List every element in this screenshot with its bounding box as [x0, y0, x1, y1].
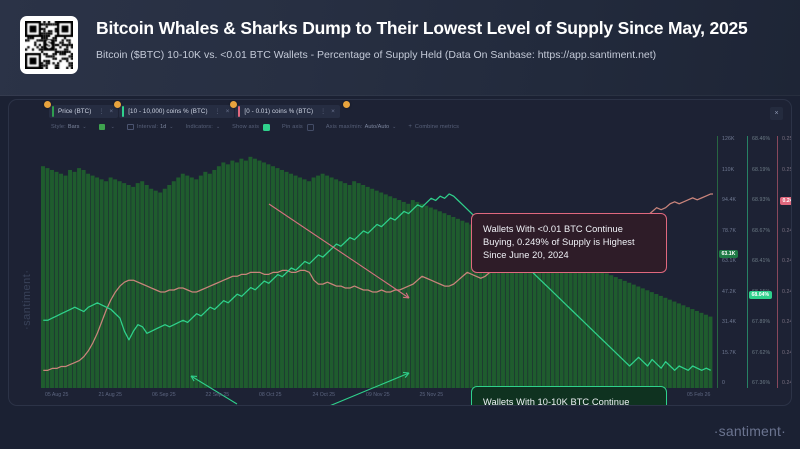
axis-tick: 47.2K: [722, 289, 736, 295]
watermark-left: ·santiment·: [21, 269, 33, 330]
title-block: Bitcoin Whales & Sharks Dump to Their Lo…: [96, 18, 748, 61]
axis-tick: 68.19%: [752, 167, 770, 173]
chip-remove-icon[interactable]: ×: [226, 108, 230, 115]
close-icon[interactable]: ×: [770, 107, 783, 120]
option-pin-axis[interactable]: Pin axis: [282, 124, 314, 131]
x-axis-tick: 05 Feb 26: [687, 392, 710, 398]
x-axis-tick: 09 Nov 25: [366, 392, 390, 398]
qr-code-icon: [20, 16, 78, 74]
option-label: Axis max/min:: [326, 124, 363, 130]
chip-label: [10 - 10,000) coins % (BTC): [128, 108, 207, 115]
x-axis-tick: 05 Aug 25: [45, 392, 68, 398]
metric-chips: Price (BTC)⋮×[10 - 10,000) coins % (BTC)…: [49, 104, 353, 119]
chevron-down-icon[interactable]: ⌄: [392, 124, 396, 130]
chevron-down-icon[interactable]: ⌄: [216, 124, 220, 130]
axis-tick: 78.7K: [722, 228, 736, 234]
chip-remove-icon[interactable]: ×: [331, 108, 335, 115]
axis-tick: 15.7K: [722, 350, 736, 356]
axis-current-value-badge: 0.249%: [780, 197, 792, 205]
option-label: Interval:: [137, 124, 158, 130]
page-subtitle: Bitcoin ($BTC) 10-10K vs. <0.01 BTC Wall…: [96, 49, 748, 61]
chevron-down-icon[interactable]: ⌄: [169, 124, 173, 130]
axis-current-value-badge: 68.04%: [749, 291, 772, 299]
page-title: Bitcoin Whales & Sharks Dump to Their Lo…: [96, 18, 748, 39]
axis-tick: 0.243%: [782, 319, 792, 325]
axis-tick: 63.1K: [722, 258, 736, 264]
option-show-axis[interactable]: Show axis: [232, 124, 270, 131]
plus-icon[interactable]: +: [408, 124, 412, 130]
page-header: Bitcoin Whales & Sharks Dump to Their Lo…: [0, 0, 800, 96]
x-axis-tick: 06 Sep 25: [152, 392, 176, 398]
axis-tick: 68.46%: [752, 136, 770, 142]
chip-menu-icon[interactable]: ⋮: [215, 108, 221, 115]
option-interval[interactable]: Interval:1d⌄: [127, 124, 174, 130]
show-axis-checkbox[interactable]: [263, 124, 270, 131]
chip-label: [0 - 0.01) coins % (BTC): [244, 108, 313, 115]
color-swatch-icon[interactable]: [99, 124, 105, 130]
axis-tick: 126K: [722, 136, 735, 142]
chip-pin-icon[interactable]: [230, 101, 237, 108]
option-label: Show axis: [232, 124, 259, 130]
metric-chip-2[interactable]: [0 - 0.01) coins % (BTC)⋮×: [235, 105, 340, 118]
axis-tick: 0.24%: [782, 380, 792, 386]
chart-panel: Price (BTC)⋮×[10 - 10,000) coins % (BTC)…: [8, 99, 792, 406]
axis-tick: 0.241%: [782, 350, 792, 356]
axis-tick: 68.67%: [752, 228, 770, 234]
axis-tick: 0.251%: [782, 136, 792, 142]
axis-tick: 67.62%: [752, 350, 770, 356]
axis-line: [777, 136, 778, 388]
chip-tail: [341, 105, 353, 118]
option-style[interactable]: Style:Bars⌄: [51, 124, 87, 130]
chip-menu-icon[interactable]: ⋮: [98, 108, 104, 115]
option-indicators[interactable]: Indicators:⌄: [186, 124, 221, 130]
option-label: Combine metrics: [415, 124, 459, 130]
x-axis-tick: 24 Oct 25: [313, 392, 336, 398]
x-axis-tick: 25 Nov 25: [420, 392, 444, 398]
metric-chip-0[interactable]: Price (BTC)⋮×: [49, 105, 118, 118]
axis-current-value-badge: 63.1K: [719, 250, 738, 258]
axis-line: [717, 136, 718, 388]
axis-tick: 94.4K: [722, 197, 736, 203]
axis-tick: 0.246%: [782, 258, 792, 264]
chip-color-swatch: [52, 106, 54, 117]
axis-tick: 0.244%: [782, 289, 792, 295]
axis-line: [747, 136, 748, 388]
chip-remove-icon[interactable]: ×: [109, 108, 113, 115]
axis-tick: 68.41%: [752, 258, 770, 264]
chart-overview-scrubber[interactable]: [49, 405, 749, 406]
chevron-down-icon[interactable]: ⌄: [82, 124, 86, 130]
x-axis-tick: 21 Aug 25: [99, 392, 122, 398]
option-style-color[interactable]: ⌄: [99, 124, 115, 130]
chip-menu-icon[interactable]: ⋮: [320, 108, 326, 115]
option-value: Auto/Auto: [365, 124, 390, 130]
annotation-green: Wallets With 10-10K BTC Continue Selling…: [471, 386, 667, 406]
option-label: Style:: [51, 124, 66, 130]
axis-tick: 68.93%: [752, 197, 770, 203]
axis-tick: 0: [722, 380, 725, 386]
calendar-icon: [127, 124, 134, 130]
option-value: 1d: [160, 124, 166, 130]
watermark-bottom: ·santiment·: [714, 423, 786, 439]
option-combine-metrics[interactable]: +Combine metrics: [408, 124, 459, 130]
annotation-red: Wallets With <0.01 BTC Continue Buying, …: [471, 213, 667, 273]
axis-10-10k-percent[interactable]: 68.46%68.19%68.93%68.67%68.41%68.15%67.8…: [745, 136, 779, 388]
x-axis-tick: 08 Oct 25: [259, 392, 282, 398]
axis-tick: 0.25%: [782, 167, 792, 173]
axis-price[interactable]: 126K110K94.4K78.7K63.1K47.2K31.4K15.7K06…: [715, 136, 749, 388]
option-axis-maxmin[interactable]: Axis max/min:Auto/Auto⌄: [326, 124, 397, 130]
axis-tick: 110K: [722, 167, 734, 173]
option-label: Pin axis: [282, 124, 303, 130]
chart-options-row: Style:Bars⌄⌄Interval:1d⌄Indicators:⌄Show…: [51, 121, 471, 133]
option-label: Indicators:: [186, 124, 213, 130]
axis-tick: 0.247%: [782, 228, 792, 234]
chip-color-swatch: [122, 106, 124, 117]
chip-pin-icon[interactable]: [114, 101, 121, 108]
pin-axis-checkbox[interactable]: [307, 124, 314, 131]
axis-tick: 67.89%: [752, 319, 770, 325]
chip-pin-icon[interactable]: [343, 101, 350, 108]
x-axis-tick: 22 Sep 25: [206, 392, 230, 398]
metric-chip-1[interactable]: [10 - 10,000) coins % (BTC)⋮×: [119, 105, 234, 118]
chevron-down-icon[interactable]: ⌄: [111, 124, 115, 130]
chip-pin-icon[interactable]: [44, 101, 51, 108]
axis-tick: 31.4K: [722, 319, 736, 325]
axis-tick: 67.36%: [752, 380, 770, 386]
option-value: Bars: [68, 124, 80, 130]
chip-label: Price (BTC): [58, 108, 91, 115]
axis-0-001-percent[interactable]: 0.251%0.25%0.249%0.247%0.246%0.244%0.243…: [775, 136, 792, 388]
chip-color-swatch: [238, 106, 240, 117]
